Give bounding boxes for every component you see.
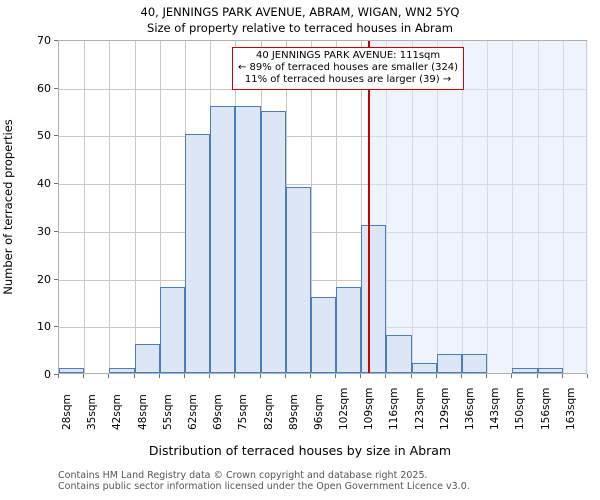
x-tick-label: 116sqm [389, 388, 400, 430]
x-tick-label: 62sqm [188, 394, 199, 430]
y-tick-label: 50 [3, 130, 51, 141]
x-tick-label: 109sqm [364, 388, 375, 430]
x-tick-label: 69sqm [213, 394, 224, 430]
x-tick-label: 156sqm [541, 388, 552, 430]
x-tick-label: 75sqm [238, 394, 249, 430]
y-tick-label: 70 [3, 35, 51, 46]
y-tick-label: 20 [3, 274, 51, 285]
footer-attribution: Contains HM Land Registry data © Crown c… [58, 470, 598, 492]
x-tick-label: 48sqm [138, 394, 149, 430]
chart-title-block: 40, JENNINGS PARK AVENUE, ABRAM, WIGAN, … [0, 4, 600, 36]
y-tick-mark [54, 279, 58, 280]
x-tick-label: 96sqm [314, 394, 325, 430]
x-axis-title: Distribution of terraced houses by size … [0, 443, 600, 458]
x-tick-mark [58, 374, 59, 378]
y-tick-mark [54, 183, 58, 184]
x-tick-mark [335, 374, 336, 378]
annotation-line-1: 40 JENNINGS PARK AVENUE: 111sqm [238, 50, 458, 62]
annotation-line-3: 11% of terraced houses are larger (39) → [238, 74, 458, 86]
x-tick-label: 129sqm [440, 388, 451, 430]
y-axis-title-text: Number of terraced properties [1, 119, 15, 295]
property-marker [59, 41, 586, 373]
y-tick-label: 40 [3, 178, 51, 189]
marker-line [368, 41, 370, 373]
y-tick-label: 60 [3, 83, 51, 94]
x-tick-mark [562, 374, 563, 378]
y-tick-mark [54, 40, 58, 41]
x-tick-mark [587, 374, 588, 378]
x-tick-mark [411, 374, 412, 378]
chart-title-line-1: 40, JENNINGS PARK AVENUE, ABRAM, WIGAN, … [0, 4, 600, 20]
x-tick-mark [436, 374, 437, 378]
x-tick-mark [134, 374, 135, 378]
x-tick-mark [285, 374, 286, 378]
footer-line-1: Contains HM Land Registry data © Crown c… [58, 470, 598, 481]
x-tick-label: 143sqm [490, 388, 501, 430]
x-tick-mark [385, 374, 386, 378]
annotation-line-2: ← 89% of terraced houses are smaller (32… [238, 62, 458, 74]
x-tick-label: 163sqm [566, 388, 577, 430]
y-tick-label: 10 [3, 321, 51, 332]
x-tick-label: 82sqm [264, 394, 275, 430]
x-tick-mark [83, 374, 84, 378]
y-tick-mark [54, 326, 58, 327]
y-tick-mark [54, 135, 58, 136]
x-tick-mark [184, 374, 185, 378]
x-tick-mark [260, 374, 261, 378]
x-tick-mark [310, 374, 311, 378]
plot-area [58, 40, 587, 374]
x-tick-label: 42sqm [112, 394, 123, 430]
x-tick-label: 89sqm [289, 394, 300, 430]
x-tick-mark [234, 374, 235, 378]
x-tick-mark [159, 374, 160, 378]
x-tick-mark [511, 374, 512, 378]
y-tick-label: 30 [3, 226, 51, 237]
x-tick-label: 55sqm [163, 394, 174, 430]
x-tick-label: 136sqm [465, 388, 476, 430]
y-tick-mark [54, 231, 58, 232]
x-tick-mark [108, 374, 109, 378]
chart-title-line-2: Size of property relative to terraced ho… [0, 20, 600, 36]
x-tick-label: 28sqm [62, 394, 73, 430]
x-tick-mark [209, 374, 210, 378]
x-tick-label: 102sqm [339, 388, 350, 430]
footer-line-2: Contains public sector information licen… [58, 481, 598, 492]
x-tick-label: 123sqm [415, 388, 426, 430]
x-tick-label: 35sqm [87, 394, 98, 430]
x-tick-mark [360, 374, 361, 378]
x-tick-mark [537, 374, 538, 378]
x-tick-label: 150sqm [515, 388, 526, 430]
x-tick-mark [486, 374, 487, 378]
x-tick-mark [461, 374, 462, 378]
annotation-box: 40 JENNINGS PARK AVENUE: 111sqm ← 89% of… [232, 47, 464, 90]
y-tick-label: 0 [3, 369, 51, 380]
y-tick-mark [54, 88, 58, 89]
